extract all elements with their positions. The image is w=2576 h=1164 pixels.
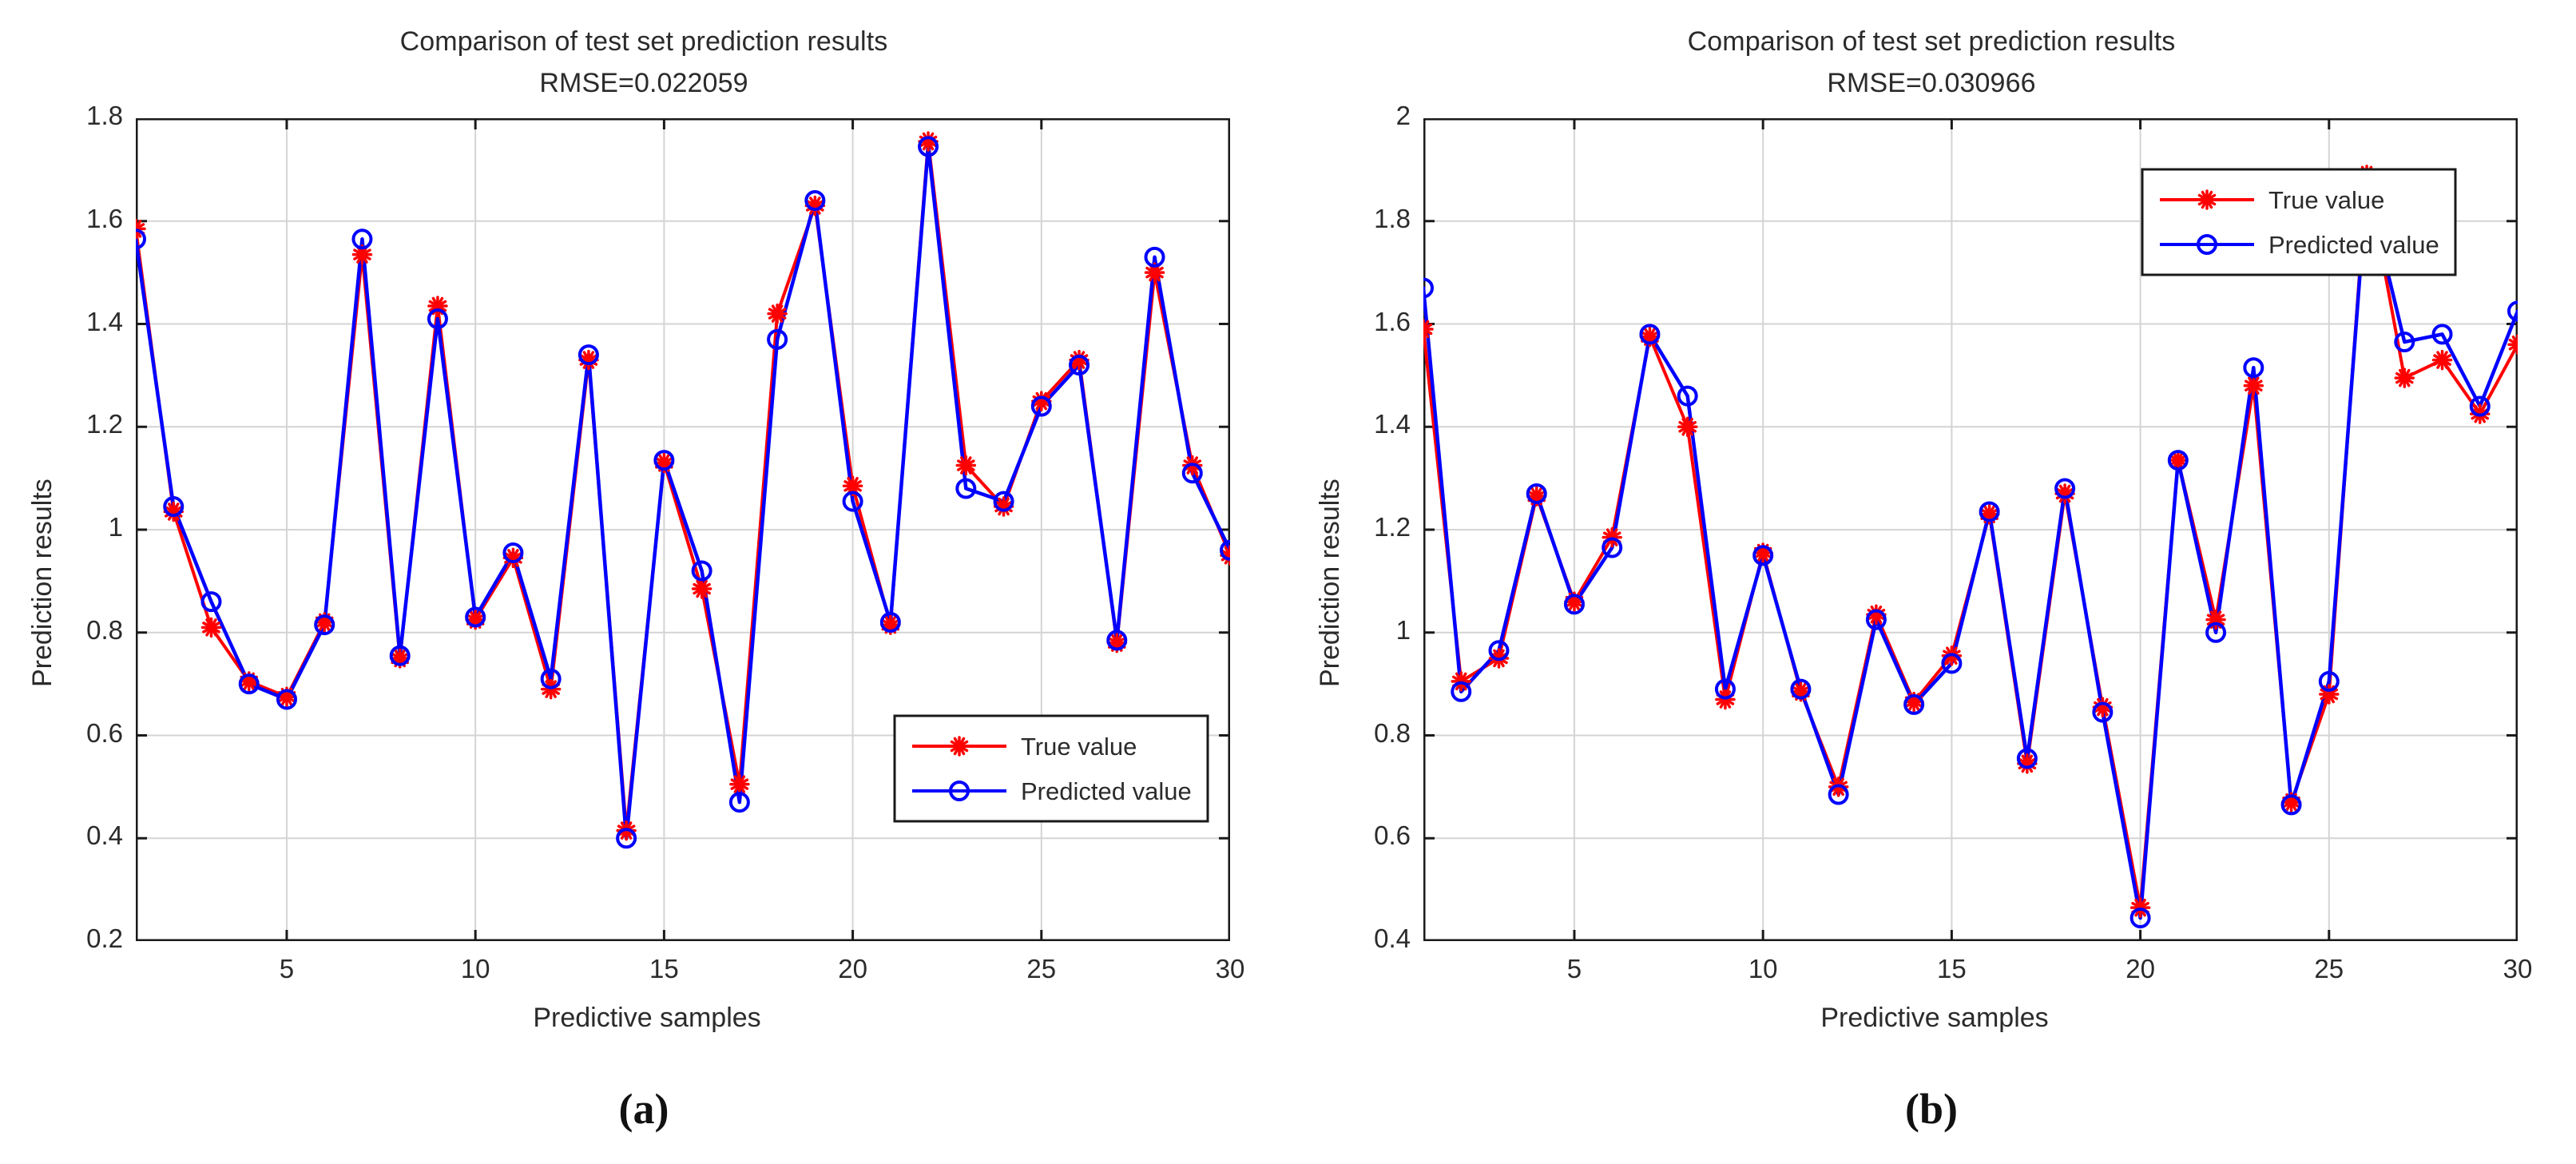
x-axis-label: Predictive samples (1423, 1003, 2446, 1034)
x-axis-tick-label: 25 (1002, 954, 1082, 984)
x-axis-tick-label: 15 (624, 954, 704, 984)
legend: True valuePredicted value (2142, 169, 2455, 275)
legend: True valuePredicted value (895, 716, 1208, 821)
y-axis-tick-label: 0.6 (27, 718, 123, 749)
panel-caption: (b) (1288, 1084, 2575, 1134)
y-axis-tick-label: 0.6 (1315, 820, 1411, 851)
y-axis-tick-label: 1.4 (27, 307, 123, 337)
y-axis-tick-label: 0.8 (27, 615, 123, 646)
y-axis-tick-label: 1.2 (27, 409, 123, 439)
y-axis-tick-label: 1.6 (27, 204, 123, 234)
panel-b: Comparison of test set prediction result… (1288, 0, 2575, 1164)
plot-area-a: True valuePredicted value (136, 118, 1230, 941)
y-axis-tick-label: 1 (27, 512, 123, 542)
x-axis-tick-label: 10 (1723, 954, 1803, 984)
y-axis-tick-label: 0.8 (1315, 718, 1411, 749)
x-axis-label: Predictive samples (136, 1003, 1158, 1034)
panel-b-title-block: Comparison of test set prediction result… (1288, 21, 2575, 104)
x-axis-tick-label: 20 (813, 954, 893, 984)
x-axis-tick-label: 15 (1911, 954, 1991, 984)
legend-item-label: True value (1021, 733, 1137, 761)
panel-caption: (a) (0, 1084, 1288, 1134)
y-axis-label: Prediction results (1315, 479, 1346, 687)
figure-two-panel-comparison: Comparison of test set prediction result… (0, 0, 2576, 1164)
y-axis-tick-label: 0.4 (27, 820, 123, 851)
y-axis-tick-label: 1.2 (1315, 512, 1411, 542)
chart-subtitle-rmse: RMSE=0.022059 (0, 62, 1288, 104)
y-axis-tick-label: 1.8 (27, 101, 123, 131)
y-axis-tick-label: 1.8 (1315, 204, 1411, 234)
x-axis-tick-label: 20 (2101, 954, 2181, 984)
y-axis-tick-label: 1.4 (1315, 409, 1411, 439)
y-axis-tick-label: 2 (1315, 101, 1411, 131)
panel-a: Comparison of test set prediction result… (0, 0, 1288, 1164)
y-axis-tick-label: 1 (1315, 615, 1411, 646)
x-axis-tick-label: 5 (1534, 954, 1614, 984)
y-axis-tick-label: 0.2 (27, 924, 123, 954)
x-axis-tick-label: 10 (435, 954, 515, 984)
x-axis-tick-label: 30 (1190, 954, 1270, 984)
y-axis-label: Prediction results (27, 479, 58, 687)
legend-item-label: Predicted value (1021, 777, 1192, 805)
x-axis-tick-label: 25 (2289, 954, 2369, 984)
legend-item-label: Predicted value (2268, 231, 2439, 259)
chart-title: Comparison of test set prediction result… (1288, 21, 2575, 62)
y-axis-tick-label: 1.6 (1315, 307, 1411, 337)
x-axis-tick-label: 5 (247, 954, 327, 984)
x-axis-tick-label: 30 (2478, 954, 2558, 984)
panel-a-title-block: Comparison of test set prediction result… (0, 21, 1288, 104)
y-axis-tick-label: 0.4 (1315, 924, 1411, 954)
legend-item-label: True value (2268, 186, 2384, 214)
chart-subtitle-rmse: RMSE=0.030966 (1288, 62, 2575, 104)
plot-area-b: True valuePredicted value (1423, 118, 2518, 941)
chart-title: Comparison of test set prediction result… (0, 21, 1288, 62)
